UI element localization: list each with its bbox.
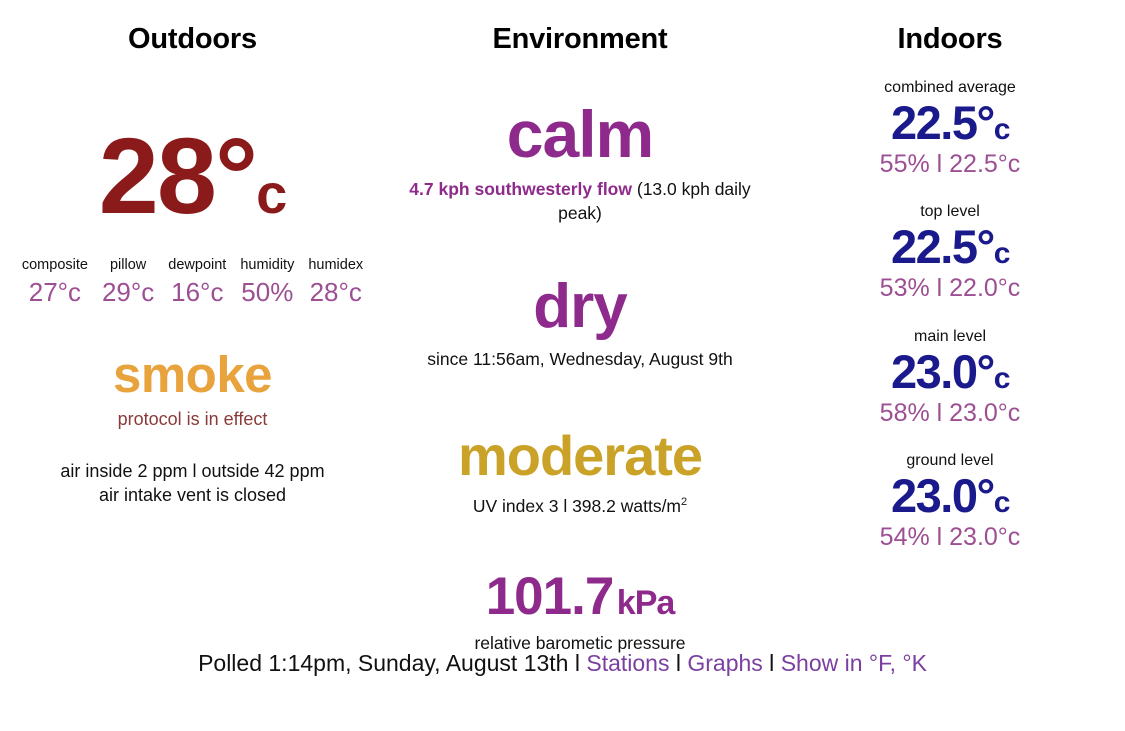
- wind-speed-accent: 4.7 kph southwesterly flow: [409, 179, 632, 199]
- graphs-link[interactable]: Graphs: [687, 650, 762, 676]
- stations-link[interactable]: Stations: [586, 650, 669, 676]
- metric-humidity-label: humidity: [240, 256, 294, 275]
- outdoors-title: Outdoors: [0, 24, 385, 56]
- zone-ground-level: ground level 23.0°c 54% l 23.0°c: [775, 451, 1125, 553]
- zone-main-level-temperature: 23.0°c: [775, 348, 1125, 397]
- zone-combined-average-temperature: 22.5°c: [775, 99, 1125, 148]
- environment-title: Environment: [385, 24, 775, 56]
- smoke-alert-subtitle: protocol is in effect: [0, 408, 385, 431]
- air-quality-readout: air inside 2 ppm l outside 42 ppm air in…: [0, 459, 385, 508]
- footer-separator-2: l: [669, 650, 687, 676]
- metric-pillow-label: pillow: [102, 256, 154, 275]
- air-quality-ppm: air inside 2 ppm l outside 42 ppm: [0, 459, 385, 483]
- metric-humidex-value: 28°c: [308, 276, 363, 309]
- metric-pillow-value: 29°c: [102, 276, 154, 309]
- zone-top-level-label: top level: [775, 202, 1125, 221]
- unit-toggle-link[interactable]: Show in °F, °K: [781, 650, 927, 676]
- outdoor-metrics-row: composite 27°c pillow 29°c dewpoint 16°c…: [0, 256, 385, 308]
- indoors-title: Indoors: [775, 24, 1125, 56]
- pressure-unit: kPa: [617, 584, 675, 622]
- outdoor-temperature-unit: c: [256, 162, 286, 225]
- zone-top-level: top level 22.5°c 53% l 22.0°c: [775, 202, 1125, 304]
- metric-humidity: humidity 50%: [233, 256, 301, 308]
- zone-ground-level-detail: 54% l 23.0°c: [775, 522, 1125, 553]
- uv-state-word: moderate: [385, 427, 775, 485]
- metric-dewpoint: dewpoint 16°c: [161, 256, 233, 308]
- uv-detail-exponent: 2: [681, 496, 687, 508]
- wind-state-word: calm: [385, 100, 775, 169]
- outdoors-column: Outdoors 28°c composite 27°c pillow 29°c…: [0, 0, 385, 508]
- zone-ground-level-temp-unit: c: [994, 486, 1009, 519]
- metric-dewpoint-value: 16°c: [168, 276, 226, 309]
- footer-separator-1: l: [568, 650, 586, 676]
- precipitation-detail: since 11:56am, Wednesday, August 9th: [385, 347, 775, 371]
- uv-detail-text: UV index 3 l 398.2 watts/m: [473, 496, 681, 516]
- precipitation-state-word: dry: [385, 275, 775, 339]
- zone-combined-average-temp-value: 22.5°: [891, 96, 994, 149]
- outdoor-temperature-value: 28°: [99, 115, 256, 236]
- footer-separator-3: l: [763, 650, 781, 676]
- uv-detail: UV index 3 l 398.2 watts/m2: [385, 494, 775, 518]
- zone-main-level-detail: 58% l 23.0°c: [775, 398, 1125, 429]
- polled-timestamp: Polled 1:14pm, Sunday, August 13th: [198, 650, 568, 676]
- zone-ground-level-label: ground level: [775, 451, 1125, 470]
- zone-main-level: main level 23.0°c 58% l 23.0°c: [775, 327, 1125, 429]
- zone-main-level-temp-value: 23.0°: [891, 345, 994, 398]
- zone-combined-average: combined average 22.5°c 55% l 22.5°c: [775, 78, 1125, 180]
- zone-top-level-detail: 53% l 22.0°c: [775, 273, 1125, 304]
- footer-bar: Polled 1:14pm, Sunday, August 13th l Sta…: [0, 650, 1125, 677]
- zone-ground-level-temp-value: 23.0°: [891, 469, 994, 522]
- zone-combined-average-label: combined average: [775, 78, 1125, 97]
- outdoor-temperature: 28°c: [0, 122, 385, 230]
- zone-top-level-temp-value: 22.5°: [891, 220, 994, 273]
- smoke-alert-word: smoke: [0, 348, 385, 402]
- metric-composite: composite 27°c: [15, 256, 95, 308]
- weather-dashboard: Outdoors 28°c composite 27°c pillow 29°c…: [0, 0, 1125, 731]
- metric-humidex-label: humidex: [308, 256, 363, 275]
- pressure-value: 101.7: [486, 567, 614, 626]
- air-intake-status: air intake vent is closed: [0, 483, 385, 507]
- metric-dewpoint-label: dewpoint: [168, 256, 226, 275]
- zone-combined-average-temp-unit: c: [994, 113, 1009, 146]
- zone-main-level-temp-unit: c: [994, 362, 1009, 395]
- zone-ground-level-temperature: 23.0°c: [775, 472, 1125, 521]
- wind-detail: 4.7 kph southwesterly flow (13.0 kph dai…: [385, 177, 775, 225]
- zone-main-level-label: main level: [775, 327, 1125, 346]
- metric-humidity-value: 50%: [240, 276, 294, 309]
- metric-pillow: pillow 29°c: [95, 256, 161, 308]
- barometric-pressure: 101.7 kPa: [385, 570, 775, 623]
- indoors-column: Indoors combined average 22.5°c 55% l 22…: [775, 0, 1125, 553]
- metric-composite-label: composite: [22, 256, 88, 275]
- metric-composite-value: 27°c: [22, 276, 88, 309]
- metric-humidex: humidex 28°c: [301, 256, 370, 308]
- zone-top-level-temp-unit: c: [994, 237, 1009, 270]
- dashboard-columns: Outdoors 28°c composite 27°c pillow 29°c…: [0, 0, 1125, 640]
- zone-combined-average-detail: 55% l 22.5°c: [775, 149, 1125, 180]
- environment-column: Environment calm 4.7 kph southwesterly f…: [385, 0, 775, 655]
- zone-top-level-temperature: 22.5°c: [775, 223, 1125, 272]
